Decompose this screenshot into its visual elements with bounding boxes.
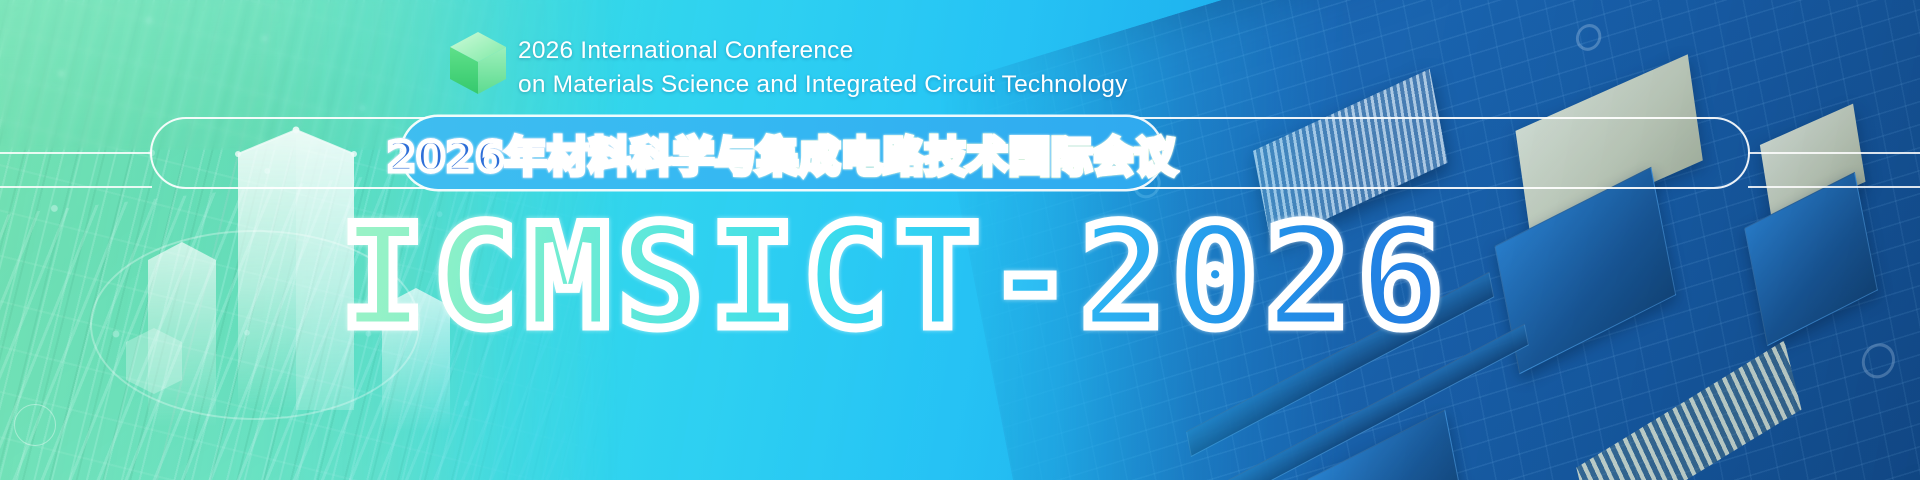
acronym-title: ICMSICT-2026 [340, 198, 1240, 358]
hairline-right-lower [1748, 186, 1920, 188]
acronym-title-text: ICMSICT-2026 [340, 207, 1450, 349]
english-title-line-1: 2026 International Conference [518, 34, 1128, 68]
green-cube-svg [447, 30, 509, 98]
chinese-conference-title: 2026年材料科学与集成电路技术国际会议 [402, 117, 1162, 189]
conference-banner: 2026 International Conference on Materia… [0, 0, 1920, 480]
hairline-left [0, 152, 152, 154]
english-title-line-2: on Materials Science and Integrated Circ… [518, 68, 1128, 102]
chinese-title-text: 2026年材料科学与集成电路技术国际会议 [387, 123, 1177, 183]
english-conference-title: 2026 International Conference on Materia… [518, 34, 1128, 102]
green-cube-icon [447, 30, 509, 98]
hairline-left-lower [0, 186, 152, 188]
hairline-right [1748, 152, 1920, 154]
corner-badge-icon [14, 404, 56, 446]
